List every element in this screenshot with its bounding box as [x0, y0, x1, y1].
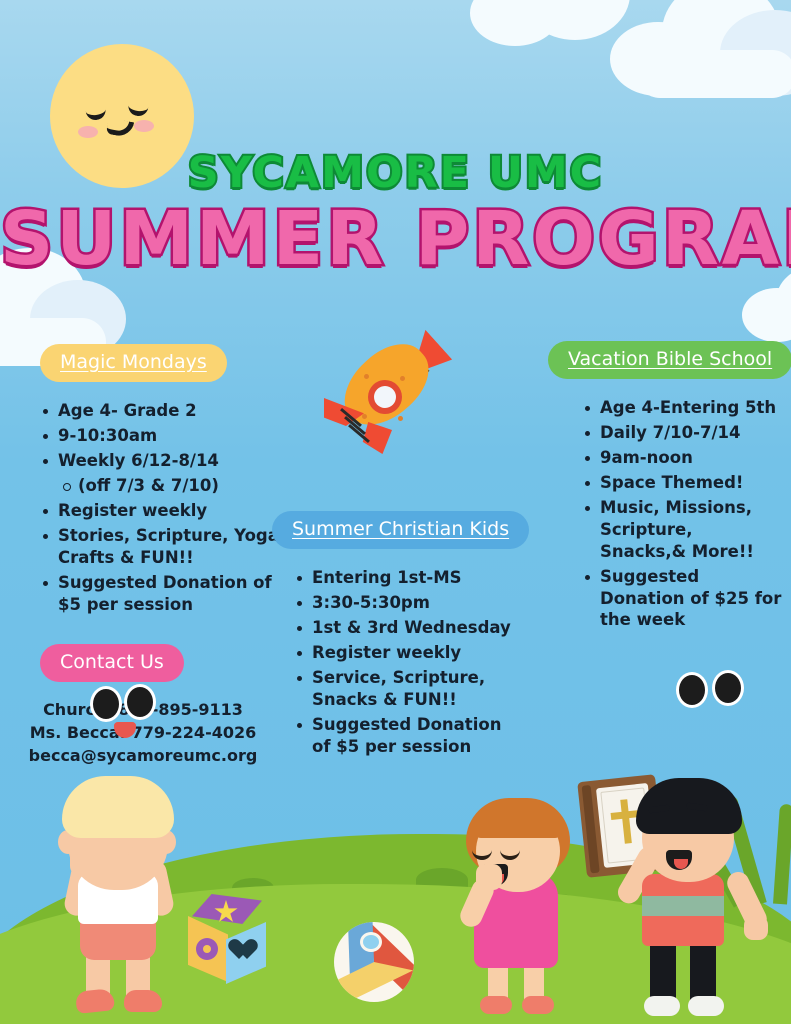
heart-icon: [234, 940, 258, 962]
eye-left: [90, 686, 122, 722]
shoe-left: [75, 988, 115, 1014]
child-boy-dark-hair: [614, 778, 764, 1024]
hand: [476, 864, 502, 890]
section-summer-christian-kids: Summer Christian Kids Entering 1st-MS 3:…: [272, 511, 522, 761]
child-girl-pink: [452, 796, 582, 1024]
badge-vacation-bible-school: Vacation Bible School: [548, 341, 791, 379]
contact-becca-phone: Ms. Becca: 779-224-4026: [18, 721, 268, 744]
sun-eye-right: [127, 103, 148, 117]
shoe-right: [688, 996, 724, 1016]
list-summer-christian-kids: Entering 1st-MS 3:30-5:30pm 1st & 3rd We…: [294, 567, 522, 758]
flower-icon: [196, 938, 218, 960]
eye-left: [676, 672, 708, 708]
list-item: Space Themed!: [582, 472, 784, 494]
list-item: Music, Missions, Scripture, Snacks,& Mor…: [582, 497, 784, 563]
list-item: Daily 7/10-7/14: [582, 422, 784, 444]
sun-mouth: [106, 118, 134, 138]
list-item: Register weekly: [40, 500, 290, 522]
sun-cheek-left: [78, 126, 98, 138]
poster-title: SUMMER PROGRAMS: [0, 196, 791, 282]
list-item: Register weekly: [294, 642, 522, 664]
list-item: Age 4- Grade 2: [40, 400, 290, 422]
list-vacation-bible-school: Age 4-Entering 5th Daily 7/10-7/14 9am-n…: [582, 397, 784, 631]
list-item: Stories, Scripture, Yoga, Crafts & FUN!!: [40, 525, 290, 569]
hair: [62, 776, 174, 838]
shoe-left: [644, 996, 680, 1016]
list-item: 9am-noon: [582, 447, 784, 469]
hand-right: [128, 846, 154, 874]
sun-eye-left: [85, 107, 106, 121]
rocket-rivet: [398, 416, 403, 421]
rocket-rivet: [362, 414, 367, 419]
list-item: 1st & 3rd Wednesday: [294, 617, 522, 639]
list-item: Suggested Donation of $5 per session: [294, 714, 522, 758]
shoe-right: [124, 990, 162, 1012]
section-magic-mondays: Magic Mondays Age 4- Grade 2 9-10:30am W…: [40, 344, 290, 618]
list-item: Weekly 6/12-8/14: [40, 450, 290, 472]
list-item: Suggested Donation of $5 per session: [40, 572, 290, 616]
list-item: Service, Scripture, Snacks & FUN!!: [294, 667, 522, 711]
list-item-sub: (off 7/3 & 7/10): [40, 475, 290, 497]
hair-front: [474, 800, 562, 838]
badge-summer-christian-kids: Summer Christian Kids: [272, 511, 529, 549]
list-item: Age 4-Entering 5th: [582, 397, 784, 419]
list-item: 3:30-5:30pm: [294, 592, 522, 614]
ball-hub: [360, 932, 382, 952]
rocket-icon: [312, 336, 452, 456]
list-item: 9-10:30am: [40, 425, 290, 447]
beach-ball-icon: [334, 922, 414, 1002]
section-vacation-bible-school: Vacation Bible School Age 4-Entering 5th…: [548, 341, 784, 634]
toy-block-icon: [186, 894, 268, 986]
list-magic-mondays: Age 4- Grade 2 9-10:30am Weekly 6/12-8/1…: [40, 400, 290, 615]
rocket-rivet: [364, 374, 369, 379]
legs: [650, 940, 716, 1010]
hand-right: [744, 916, 768, 940]
badge-contact-us: Contact Us: [40, 644, 184, 682]
hand-left: [70, 848, 96, 876]
list-item: Suggested Donation of $25 for the week: [582, 566, 784, 632]
rocket-rivet: [400, 376, 405, 381]
child-blond: [42, 776, 192, 1024]
shirt-stripe: [642, 896, 724, 916]
rocket-porthole: [368, 380, 402, 414]
poster-subtitle: SYCAMORE UMC: [0, 148, 791, 198]
ground-illustration: [0, 764, 791, 1024]
shoe-left: [480, 996, 512, 1014]
badge-magic-mondays: Magic Mondays: [40, 344, 227, 382]
cloud-top-center: [470, 0, 650, 60]
poster-canvas: SYCAMORE UMC SUMMER PROGRAMS Magic Monda…: [0, 0, 791, 1024]
sun-cheek-right: [134, 120, 154, 132]
shoe-right: [522, 996, 554, 1014]
list-item: Entering 1st-MS: [294, 567, 522, 589]
eye-right: [124, 684, 156, 720]
eye-right: [712, 670, 744, 706]
